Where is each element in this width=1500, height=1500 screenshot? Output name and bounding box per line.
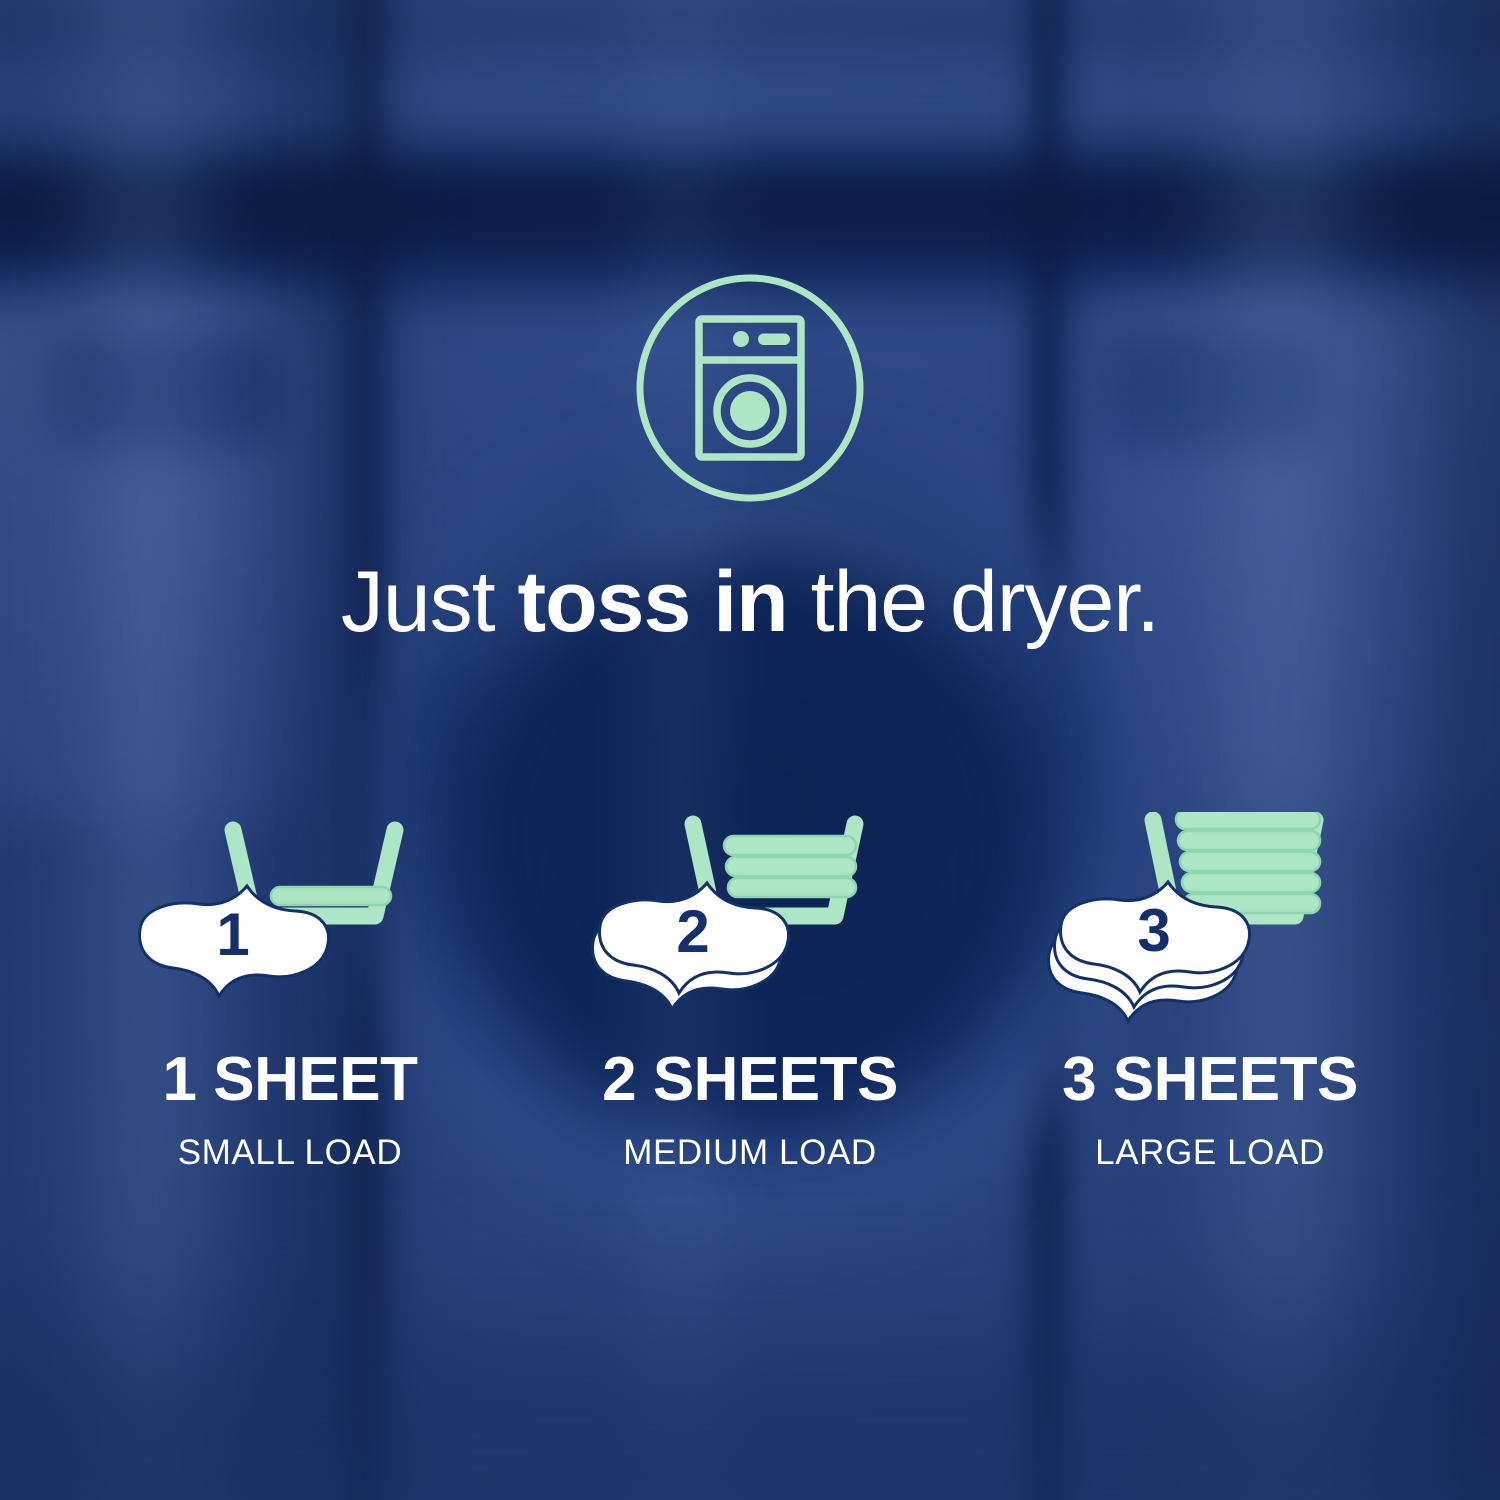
sheet-number-3: 3 (1137, 897, 1170, 964)
page-headline: Just toss in the dryer. (0, 556, 1500, 649)
sheet-number-1: 1 (216, 901, 249, 968)
step-3-artwork: 3 (1045, 812, 1375, 1027)
step-3-title: 3 SHEETS (1062, 1049, 1358, 1111)
step-2-title: 2 SHEETS (602, 1049, 898, 1111)
laundry-basket-3-sheets-icon: 3 (1045, 812, 1375, 1027)
step-item-1: 1 1 SHEET SMALL LOAD (70, 812, 510, 1170)
sheet-number-2: 2 (676, 898, 709, 965)
step-item-2: 2 2 SHEETS MEDIUM LOAD (530, 812, 970, 1170)
laundry-basket-2-sheets-icon: 2 (585, 812, 915, 1027)
step-1-subtitle: SMALL LOAD (178, 1135, 403, 1170)
headline-emphasis: toss in (518, 554, 788, 650)
basket-sheet-stack-1 (271, 887, 391, 905)
basket-sheet-stack-3 (1176, 812, 1320, 913)
hero-icon-container (0, 268, 1500, 508)
step-1-title: 1 SHEET (163, 1049, 418, 1111)
basket-sheet-stack-2 (724, 836, 856, 897)
product-infographic: Just toss in the dryer. (0, 0, 1500, 1500)
step-item-3: 3 3 SHEETS LARGE LOAD (990, 812, 1430, 1170)
steps-row: 1 1 SHEET SMALL LOAD (70, 812, 1430, 1170)
headline-part-2: the dryer. (788, 554, 1159, 650)
headline-part-1: Just (341, 554, 518, 650)
step-1-artwork: 1 (125, 812, 455, 1027)
dryer-sheet-stack-2: 2 (593, 883, 789, 1009)
laundry-basket-1-sheet-icon: 1 (125, 812, 455, 1027)
infographic-content: Just toss in the dryer. (0, 0, 1500, 1500)
step-2-subtitle: MEDIUM LOAD (623, 1135, 877, 1170)
step-2-artwork: 2 (585, 812, 915, 1027)
step-3-subtitle: LARGE LOAD (1095, 1135, 1325, 1170)
washing-machine-circle-icon (630, 268, 870, 508)
